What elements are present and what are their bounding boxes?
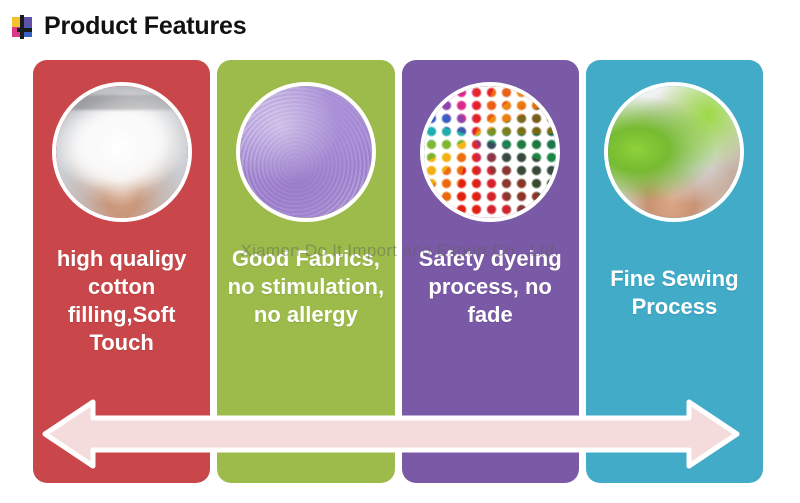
feature-card-3-caption: Safety dyeing process, no fade xyxy=(408,245,573,329)
purple-plush-fabric-photo xyxy=(236,82,376,222)
pinwheel-plus-icon xyxy=(10,14,36,40)
feature-card-1[interactable]: high qualigy cotton filling,Soft Touch xyxy=(33,60,210,483)
feature-card-1-caption: high qualigy cotton filling,Soft Touch xyxy=(39,245,204,358)
page-header: Product Features xyxy=(0,0,800,52)
sewing-machine-photo xyxy=(604,82,744,222)
feature-cards-row: high qualigy cotton filling,Soft Touch G… xyxy=(33,60,763,483)
rainbow-dot-spiral-photo xyxy=(420,82,560,222)
feature-card-4[interactable]: Fine Sewing Process xyxy=(586,60,763,483)
page-title: Product Features xyxy=(44,14,246,39)
feature-card-2[interactable]: Good Fabrics, no stimulation, no allergy xyxy=(217,60,394,483)
feature-card-2-caption: Good Fabrics, no stimulation, no allergy xyxy=(223,245,388,329)
feature-card-3[interactable]: Safety dyeing process, no fade xyxy=(402,60,579,483)
cotton-fibre-in-hands-photo xyxy=(52,82,192,222)
feature-card-4-caption: Fine Sewing Process xyxy=(592,265,757,321)
